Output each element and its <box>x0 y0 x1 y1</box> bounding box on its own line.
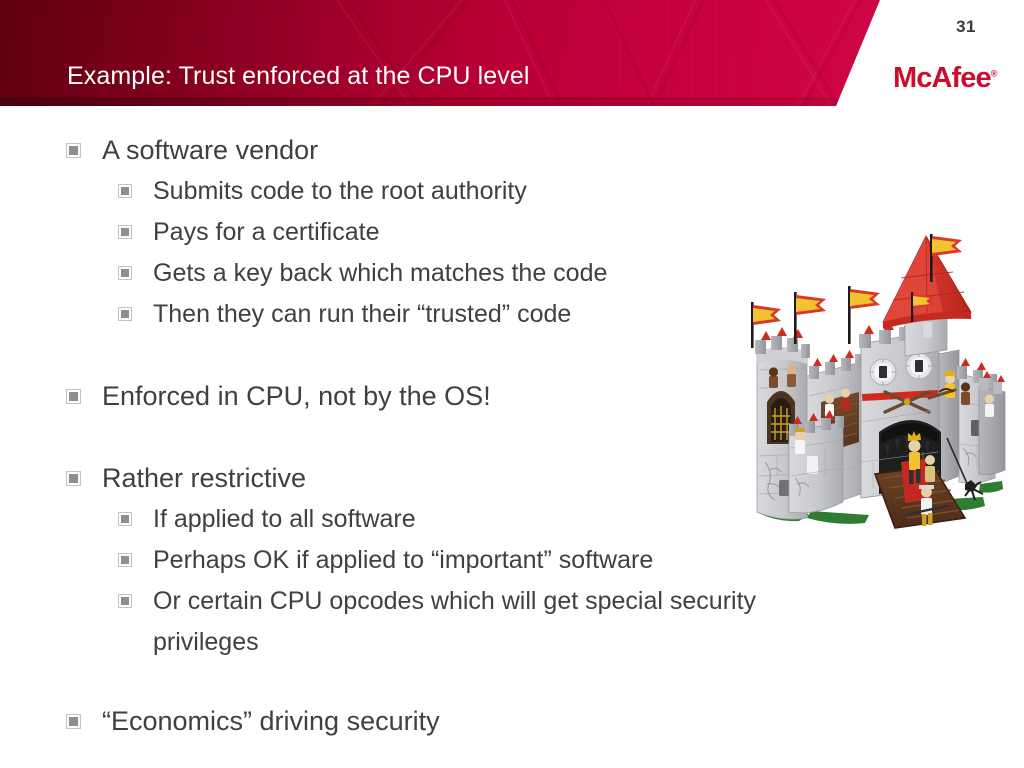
bullet-square-icon <box>118 594 132 608</box>
bullet-text: Rather restrictive <box>102 458 306 499</box>
mcafee-logo-wordmark: McAfee <box>893 62 991 94</box>
castle-minifigure <box>795 428 805 454</box>
bullet-text: Perhaps OK if applied to “important” sof… <box>153 540 653 581</box>
bullet-text: A software vendor <box>102 130 318 171</box>
bullet-item: Or certain CPU opcodes which will get sp… <box>0 581 1018 663</box>
bullet-text: Pays for a certificate <box>153 212 379 253</box>
bullet-square-icon <box>66 389 81 404</box>
bullet-square-icon <box>66 143 81 158</box>
bullet-item: A software vendor <box>0 130 1024 171</box>
bullet-square-icon <box>66 714 81 729</box>
bullet-item: “Economics” driving security <box>0 701 1024 742</box>
mcafee-logo: McAfee® <box>893 62 997 95</box>
bullet-square-icon <box>118 225 132 239</box>
bullet-text: Then they can run their “trusted” code <box>153 294 571 335</box>
bullet-square-icon <box>66 471 81 486</box>
bullet-text: Or certain CPU opcodes which will get sp… <box>153 581 853 663</box>
bullet-text: Gets a key back which matches the code <box>153 253 607 294</box>
page-number: 31 <box>956 17 976 37</box>
bullet-text: Enforced in CPU, not by the OS! <box>102 376 491 417</box>
bullet-square-icon <box>118 553 132 567</box>
bullet-square-icon <box>118 266 132 280</box>
page-title: Example: Trust enforced at the CPU level <box>67 61 530 91</box>
lego-castle-illustration <box>733 226 1015 544</box>
bullet-square-icon <box>118 512 132 526</box>
bullet-text: “Economics” driving security <box>102 701 440 742</box>
banner-bottom-shade <box>0 97 880 106</box>
castle-minifigure <box>925 455 935 482</box>
bullet-square-icon <box>118 184 132 198</box>
registered-trademark-icon: ® <box>991 68 998 78</box>
bullet-spacer <box>0 663 1024 701</box>
bullet-item: Submits code to the root authority <box>0 171 1024 212</box>
bullet-text: Submits code to the root authority <box>153 171 527 212</box>
bullet-item: Perhaps OK if applied to “important” sof… <box>0 540 1024 581</box>
bullet-text: If applied to all software <box>153 499 416 540</box>
bullet-square-icon <box>118 307 132 321</box>
